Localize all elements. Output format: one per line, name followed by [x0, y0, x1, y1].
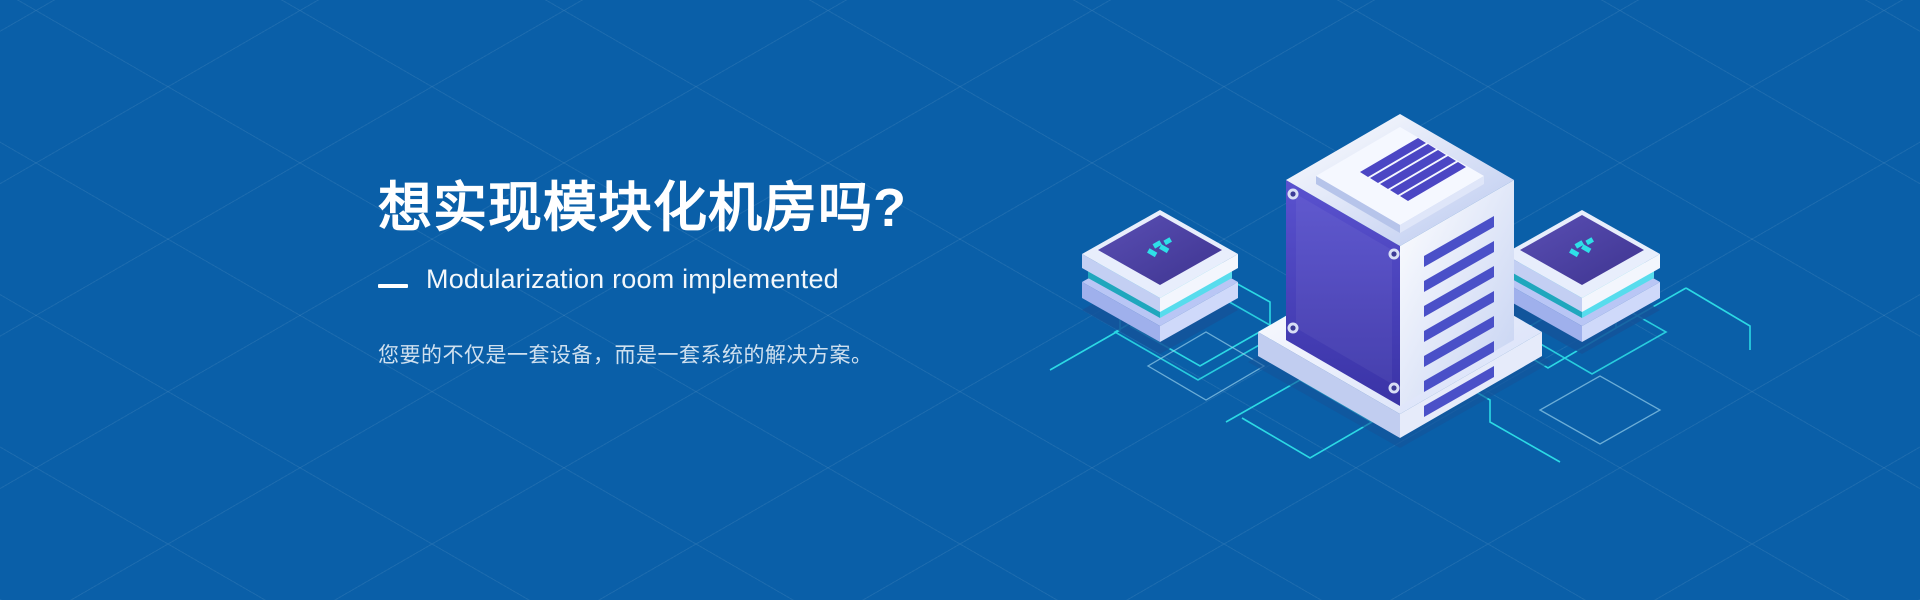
- chip-module-left: [1082, 210, 1238, 354]
- server-tower: [1248, 114, 1552, 448]
- dash-icon: [378, 284, 408, 288]
- server-illustration: [1020, 70, 1780, 470]
- hero-banner: 想实现模块化机房吗? Modularization room implement…: [0, 0, 1920, 600]
- banner-subtitle: Modularization room implemented: [426, 264, 839, 295]
